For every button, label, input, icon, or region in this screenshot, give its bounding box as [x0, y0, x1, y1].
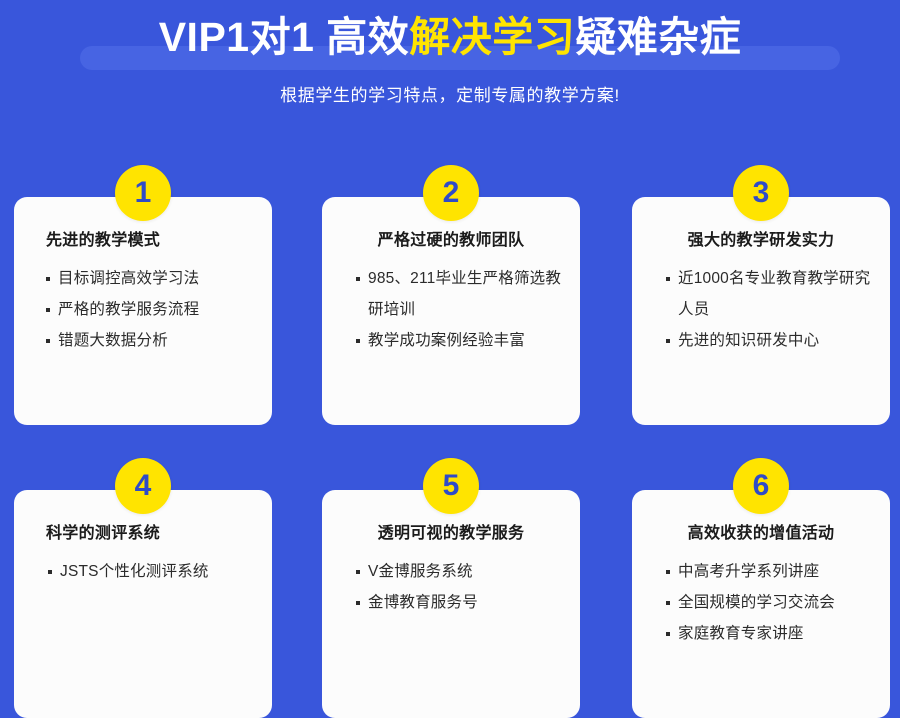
feature-card-grid: 1 先进的教学模式 目标调控高效学习法 严格的教学服务流程 错题大数据分析 2 … — [14, 165, 886, 718]
card-bullet-list: 中高考升学系列讲座 全国规模的学习交流会 家庭教育专家讲座 — [650, 556, 872, 649]
card-bullet-item: 近1000名专业教育教学研究人员 — [664, 263, 872, 325]
page-title-part1: VIP1对1 高效 — [159, 14, 410, 60]
card-title: 强大的教学研发实力 — [650, 229, 872, 253]
card-bullet-item: 全国规模的学习交流会 — [664, 587, 872, 618]
card-title: 透明可视的教学服务 — [340, 522, 562, 546]
feature-card-4: 4 科学的测评系统 JSTS个性化测评系统 — [14, 458, 272, 718]
feature-card-3: 3 强大的教学研发实力 近1000名专业教育教学研究人员 先进的知识研发中心 — [632, 165, 890, 425]
promo-page: VIP1对1 高效解决学习疑难杂症 根据学生的学习特点，定制专属的教学方案! 1… — [0, 0, 900, 663]
card-bullet-item: V金博服务系统 — [354, 556, 562, 587]
feature-card-2: 2 严格过硬的教师团队 985、211毕业生严格筛选教研培训 教学成功案例经验丰… — [322, 165, 580, 425]
card-bullet-item: 中高考升学系列讲座 — [664, 556, 872, 587]
card-bullet-item: 错题大数据分析 — [46, 325, 254, 356]
card-title: 先进的教学模式 — [32, 229, 254, 253]
card-body: 高效收获的增值活动 中高考升学系列讲座 全国规模的学习交流会 家庭教育专家讲座 — [632, 490, 890, 718]
card-bullet-list: 985、211毕业生严格筛选教研培训 教学成功案例经验丰富 — [340, 263, 562, 356]
card-bullet-item: 金博教育服务号 — [354, 587, 562, 618]
page-title-highlight: 解决学习 — [409, 14, 575, 60]
card-body: 先进的教学模式 目标调控高效学习法 严格的教学服务流程 错题大数据分析 — [14, 197, 272, 425]
card-body: 透明可视的教学服务 V金博服务系统 金博教育服务号 — [322, 490, 580, 718]
page-title: VIP1对1 高效解决学习疑难杂症 — [0, 12, 900, 62]
card-number-badge: 2 — [423, 165, 479, 221]
page-header: VIP1对1 高效解决学习疑难杂症 根据学生的学习特点，定制专属的教学方案! — [0, 0, 900, 130]
card-row-2: 4 科学的测评系统 JSTS个性化测评系统 5 透明可视的教学服务 V金博服务系… — [14, 458, 886, 718]
card-bullet-item: 严格的教学服务流程 — [46, 294, 254, 325]
card-title: 高效收获的增值活动 — [650, 522, 872, 546]
page-title-part2: 疑难杂症 — [575, 14, 741, 60]
card-title: 严格过硬的教师团队 — [340, 229, 562, 253]
card-bullet-list: 近1000名专业教育教学研究人员 先进的知识研发中心 — [650, 263, 872, 356]
card-body: 强大的教学研发实力 近1000名专业教育教学研究人员 先进的知识研发中心 — [632, 197, 890, 425]
card-bullet-item: 985、211毕业生严格筛选教研培训 — [354, 263, 562, 325]
card-number-badge: 5 — [423, 458, 479, 514]
feature-card-5: 5 透明可视的教学服务 V金博服务系统 金博教育服务号 — [322, 458, 580, 718]
card-bullet-list: V金博服务系统 金博教育服务号 — [340, 556, 562, 618]
card-number-badge: 1 — [115, 165, 171, 221]
card-bullet-item: JSTS个性化测评系统 — [46, 556, 254, 587]
card-bullet-item: 教学成功案例经验丰富 — [354, 325, 562, 356]
card-bullet-item: 先进的知识研发中心 — [664, 325, 872, 356]
page-subtitle: 根据学生的学习特点，定制专属的教学方案! — [0, 83, 900, 109]
card-body: 科学的测评系统 JSTS个性化测评系统 — [14, 490, 272, 718]
card-bullet-list: JSTS个性化测评系统 — [32, 556, 254, 587]
card-bullet-item: 目标调控高效学习法 — [46, 263, 254, 294]
card-row-1: 1 先进的教学模式 目标调控高效学习法 严格的教学服务流程 错题大数据分析 2 … — [14, 165, 886, 425]
feature-card-6: 6 高效收获的增值活动 中高考升学系列讲座 全国规模的学习交流会 家庭教育专家讲… — [632, 458, 890, 718]
card-number-badge: 3 — [733, 165, 789, 221]
card-bullet-item: 家庭教育专家讲座 — [664, 618, 872, 649]
card-number-badge: 4 — [115, 458, 171, 514]
card-bullet-list: 目标调控高效学习法 严格的教学服务流程 错题大数据分析 — [32, 263, 254, 356]
feature-card-1: 1 先进的教学模式 目标调控高效学习法 严格的教学服务流程 错题大数据分析 — [14, 165, 272, 425]
card-number-badge: 6 — [733, 458, 789, 514]
card-body: 严格过硬的教师团队 985、211毕业生严格筛选教研培训 教学成功案例经验丰富 — [322, 197, 580, 425]
card-title: 科学的测评系统 — [32, 522, 254, 546]
